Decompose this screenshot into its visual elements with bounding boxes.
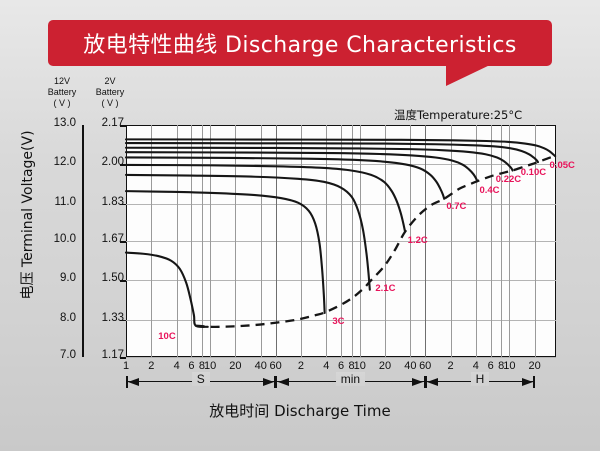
y-axis-title: 电压 Terminal Voltage(V) xyxy=(17,115,37,315)
y-tick-label-12v: 8.0 xyxy=(30,312,76,324)
x-tick-label: 1 xyxy=(113,360,139,372)
x-tick-label: 10 xyxy=(197,360,223,372)
y-tick-label-12v: 13.0 xyxy=(30,117,76,129)
x-tick-label: 2 xyxy=(138,360,164,372)
rate-label-1.2C: 1.2C xyxy=(408,235,428,246)
y-axis-header-12v: 12V Battery ( V ) xyxy=(40,76,84,109)
x-tick-label: 60 xyxy=(263,360,289,372)
y-head-2v-line1: 2V xyxy=(88,76,132,87)
y-tick-label-2v: 2.00 xyxy=(84,156,124,168)
rate-label-0.10C: 0.10C xyxy=(521,167,546,178)
curve-3C xyxy=(126,191,325,313)
y-axis-header-2v: 2V Battery ( V ) xyxy=(88,76,132,109)
temperature-annotation: 温度Temperature:25°C xyxy=(394,107,522,123)
y-tick-label-12v: 12.0 xyxy=(30,156,76,168)
y-head-12v-line3: ( V ) xyxy=(40,98,84,109)
y-tick-label-2v: 1.67 xyxy=(84,233,124,245)
rate-label-0.4C: 0.4C xyxy=(479,185,499,196)
page-title: 放电特性曲线 Discharge Characteristics xyxy=(48,20,552,66)
rate-label-2.1C: 2.1C xyxy=(375,283,395,294)
title-banner: 放电特性曲线 Discharge Characteristics xyxy=(48,20,552,66)
y-head-12v-line2: Battery xyxy=(40,87,84,98)
x-unit-segment-H: H xyxy=(425,376,534,388)
y-tick-label-2v: 2.17 xyxy=(84,117,124,129)
rate-label-0.7C: 0.7C xyxy=(446,201,466,212)
banner-tail xyxy=(446,64,492,86)
y-tick-label-2v: 1.33 xyxy=(84,312,124,324)
x-tick-label: 20 xyxy=(372,360,398,372)
x-tick-label: 2 xyxy=(438,360,464,372)
segment-label: min xyxy=(276,372,426,386)
y-tick-label-12v: 7.0 xyxy=(30,349,76,361)
x-unit-segment-S: S xyxy=(126,376,276,388)
rate-label-0.05C: 0.05C xyxy=(550,160,575,171)
x-tick-label: 60 xyxy=(412,360,438,372)
segment-label: H xyxy=(425,372,534,386)
x-tick-label: 20 xyxy=(522,360,548,372)
y-tick-label-2v: 1.50 xyxy=(84,272,124,284)
x-unit-segment-min: min xyxy=(276,376,426,388)
y-tick-label-12v: 11.0 xyxy=(30,196,76,208)
y-head-2v-line3: ( V ) xyxy=(88,98,132,109)
x-tick-label: 20 xyxy=(222,360,248,372)
y-head-12v-line1: 12V xyxy=(40,76,84,87)
plot-area: 10C3C2.1C1.2C0.7C0.4C0.22C0.10C0.05C 温度T… xyxy=(126,125,556,357)
x-tick-label: 10 xyxy=(347,360,373,372)
gridline-horizontal xyxy=(126,357,556,358)
rate-label-3C: 3C xyxy=(332,316,344,327)
curve-10C xyxy=(126,253,208,327)
y-tick-label-12v: 9.0 xyxy=(30,272,76,284)
y-tick-label-2v: 1.83 xyxy=(84,196,124,208)
x-axis-title: 放电时间 Discharge Time xyxy=(0,400,600,421)
rate-label-10C: 10C xyxy=(158,331,175,342)
y-tick-label-12v: 10.0 xyxy=(30,233,76,245)
segment-label: S xyxy=(126,372,276,386)
x-tick-label: 10 xyxy=(496,360,522,372)
y-head-2v-line2: Battery xyxy=(88,87,132,98)
rate-label-0.22C: 0.22C xyxy=(496,174,521,185)
x-tick-label: 2 xyxy=(288,360,314,372)
